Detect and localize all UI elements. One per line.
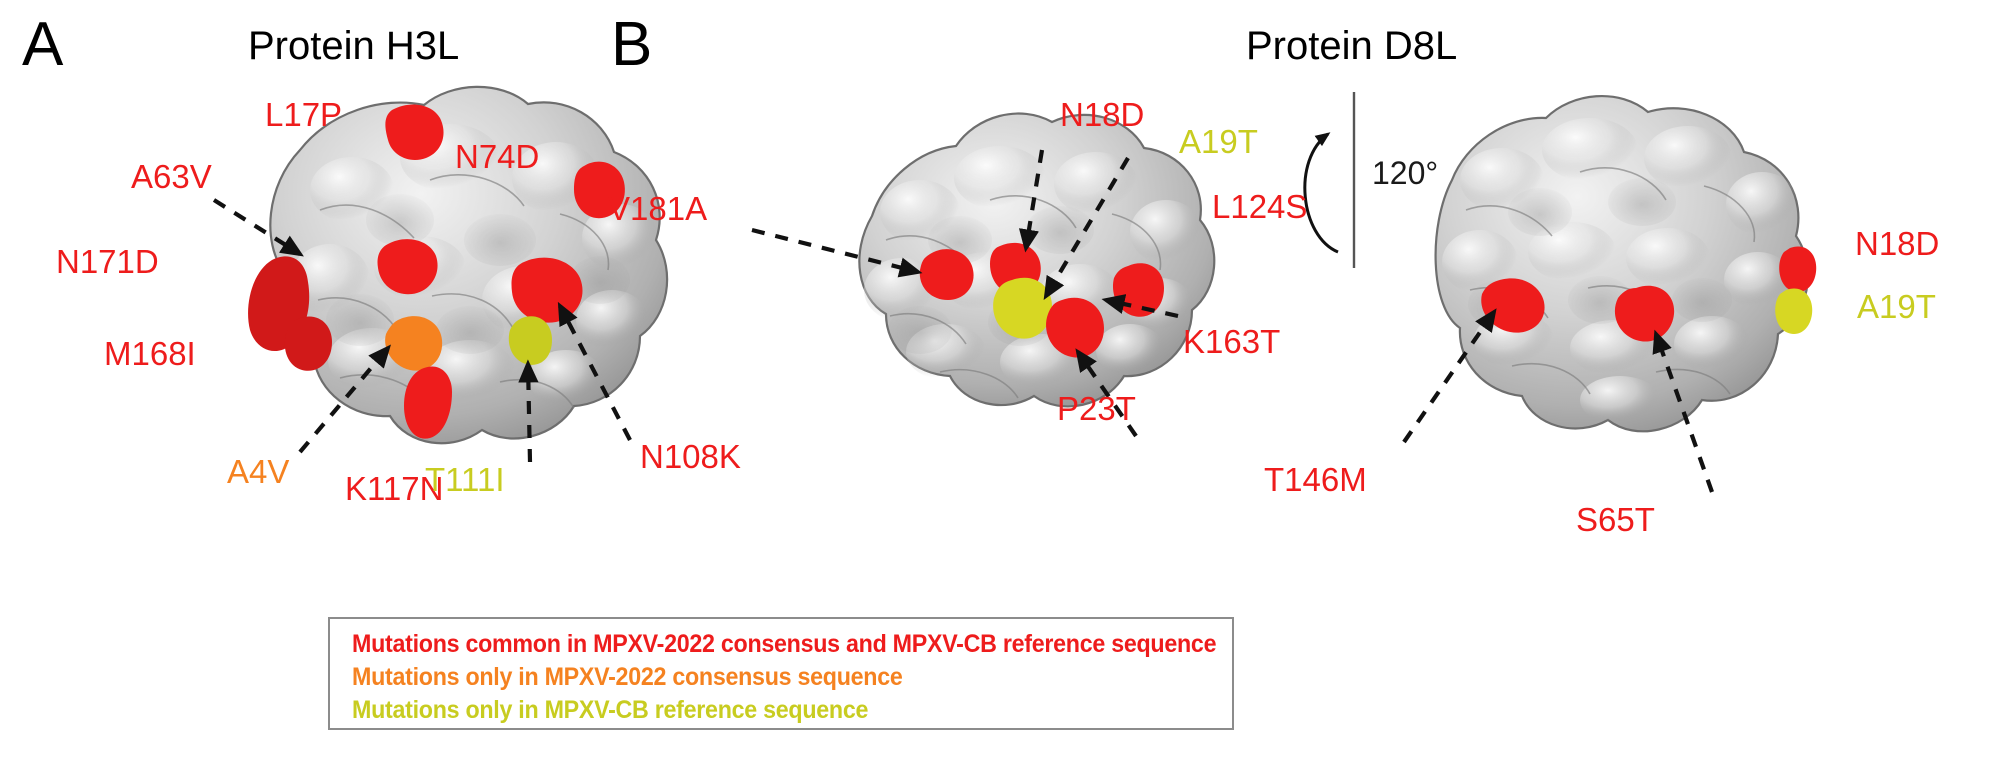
rotation-arrow-icon xyxy=(1305,92,1354,268)
legend-row-only-2022: Mutations only in MPXV-2022 consensus se… xyxy=(352,665,903,690)
label-t111i: T111I xyxy=(425,463,505,496)
rotation-degrees-label: 120° xyxy=(1372,157,1438,189)
protein-surface-d8l-view1 xyxy=(752,114,1214,436)
legend-row-common: Mutations common in MPXV-2022 consensus … xyxy=(352,632,1216,657)
mutation-patch-n18d-right xyxy=(1779,246,1816,292)
label-a63v: A63V xyxy=(131,160,212,193)
panel-title-h3l: Protein H3L xyxy=(248,26,459,66)
label-k163t: K163T xyxy=(1183,325,1280,358)
label-l124s: L124S xyxy=(1212,190,1307,223)
label-n18d-right: N18D xyxy=(1855,227,1939,260)
figure-root: A Protein H3L L17P N74D A63V N171D M168I… xyxy=(0,0,2000,762)
label-n108k: N108K xyxy=(640,440,741,473)
leader-t111i xyxy=(528,364,530,462)
label-a19t-right: A19T xyxy=(1857,290,1936,323)
label-n74d: N74D xyxy=(455,140,539,173)
panel-title-d8l: Protein D8L xyxy=(1246,26,1457,66)
label-l17p: L17P xyxy=(265,98,342,131)
label-m168i: M168I xyxy=(104,337,196,370)
legend-row-only-cb: Mutations only in MPXV-CB reference sequ… xyxy=(352,698,868,723)
label-s65t: S65T xyxy=(1576,503,1655,536)
legend-box: Mutations common in MPXV-2022 consensus … xyxy=(328,617,1234,730)
label-n171d: N171D xyxy=(56,245,159,278)
panel-letter-b: B xyxy=(611,14,652,76)
label-a19t-left: A19T xyxy=(1179,125,1258,158)
label-n18d-left: N18D xyxy=(1060,98,1144,131)
label-v181a: V181A xyxy=(608,192,707,225)
mutation-patch-a19t-right xyxy=(1775,288,1812,334)
mutation-patch-v181a xyxy=(920,249,974,300)
label-p23t: P23T xyxy=(1057,392,1136,425)
panel-letter-a: A xyxy=(22,14,63,76)
protein-surface-h3l xyxy=(214,87,667,462)
protein-surface-d8l-view2 xyxy=(1404,96,1816,492)
label-a4v: A4V xyxy=(227,455,289,488)
mutation-patch-m168i xyxy=(285,316,332,370)
label-t146m: T146M xyxy=(1264,463,1367,496)
